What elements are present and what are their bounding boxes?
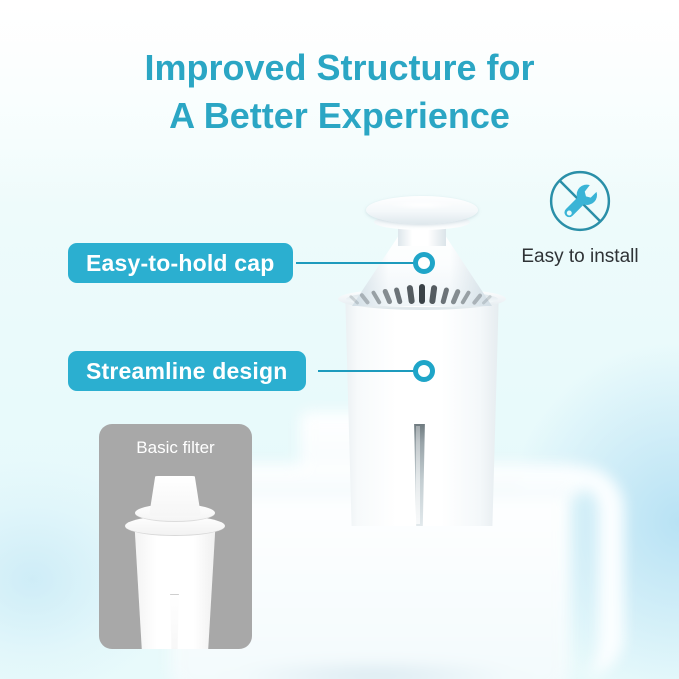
filter-vent-slot	[419, 284, 425, 304]
install-badge-label: Easy to install	[505, 246, 655, 268]
pitcher-handle	[520, 466, 624, 676]
callout-label: Streamline design	[86, 358, 288, 385]
basic-filter-inset-panel: Basic filter	[99, 424, 252, 649]
filter-vent-slot	[382, 288, 392, 304]
page-title: Improved Structure for A Better Experien…	[0, 44, 679, 139]
basic-filter-illustration	[125, 476, 225, 649]
inset-title: Basic filter	[99, 438, 252, 458]
filter-vent-slot	[440, 287, 449, 305]
leader-line-design	[318, 370, 418, 372]
leader-line-cap	[296, 262, 418, 264]
no-tools-wrench-icon	[547, 168, 613, 234]
title-line-1: Improved Structure for	[0, 44, 679, 92]
callout-easy-to-hold-cap[interactable]: Easy-to-hold cap	[68, 243, 293, 283]
filter-vent-slots	[352, 276, 492, 306]
product-feature-graphic: Improved Structure for A Better Experien…	[0, 0, 679, 679]
filter-vent-slot	[406, 285, 414, 304]
filter-vent-slot	[471, 292, 482, 305]
filter-vent-slot	[429, 285, 437, 304]
marker-ring-cap	[413, 252, 435, 274]
filter-vent-slot	[461, 290, 472, 305]
basic-filter-cap	[149, 476, 201, 516]
marker-ring-design	[413, 360, 435, 382]
pitcher-shadow	[180, 652, 570, 679]
callout-streamline-design[interactable]: Streamline design	[68, 351, 306, 391]
filter-vent-slot	[481, 295, 492, 305]
easy-to-install-badge: Easy to install	[505, 168, 655, 268]
filter-cap-highlight	[378, 199, 466, 211]
filter-vent-slot	[394, 287, 403, 305]
title-line-2: A Better Experience	[0, 92, 679, 140]
filter-body-slot-highlight	[416, 426, 420, 524]
callout-label: Easy-to-hold cap	[86, 250, 275, 277]
filter-vent-slot	[359, 292, 370, 305]
filter-vent-slot	[370, 290, 381, 305]
filter-vent-slot	[450, 288, 460, 304]
